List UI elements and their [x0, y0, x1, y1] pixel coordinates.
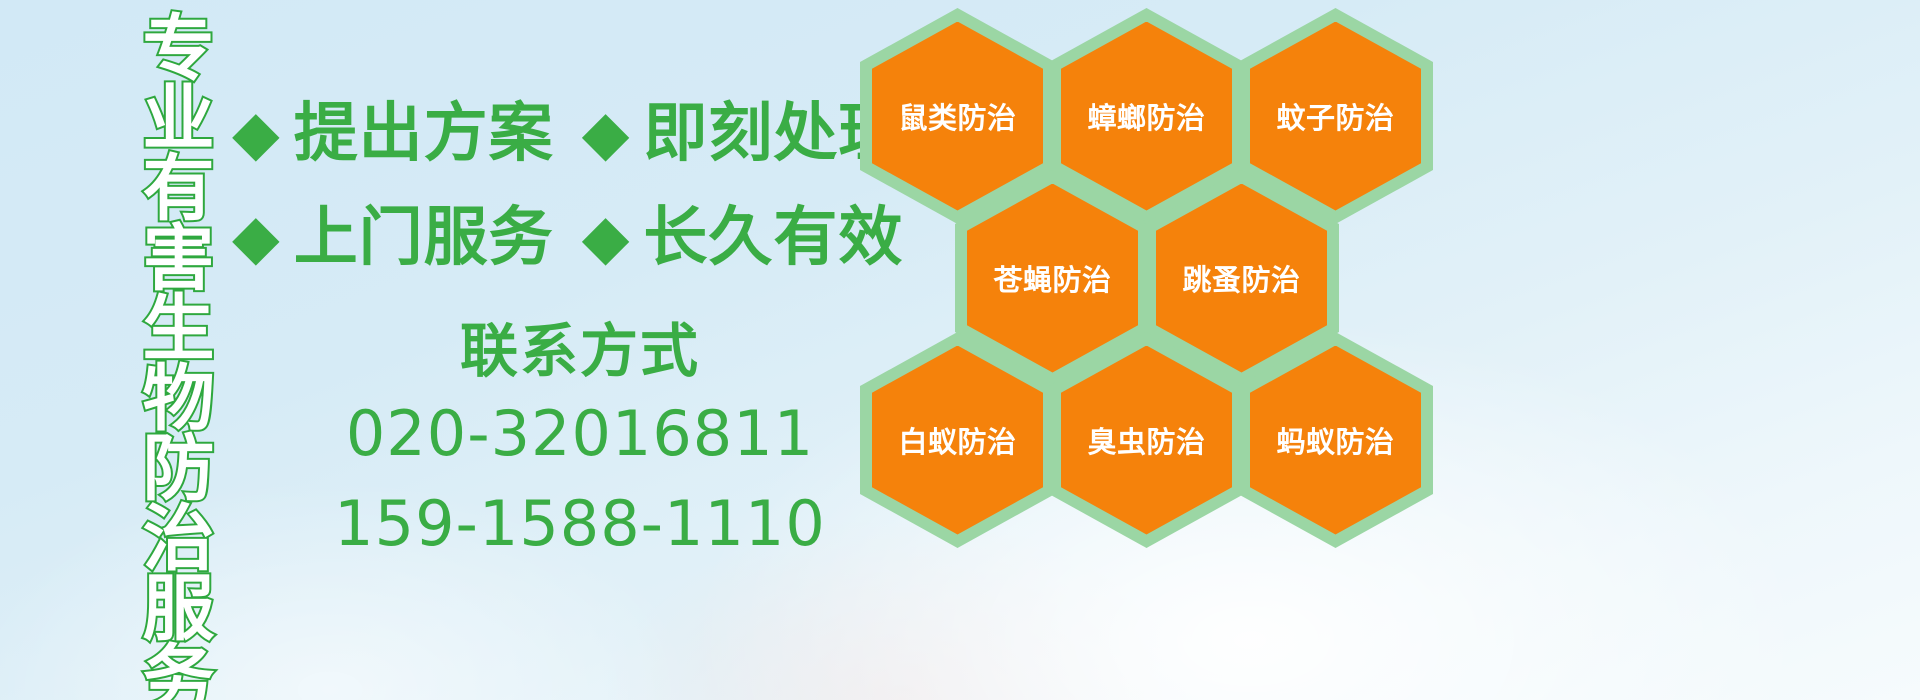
phone-number-mobile[interactable]: 159-1588-1110: [300, 483, 860, 565]
diamond-bullet-icon: ◆: [582, 103, 630, 165]
service-label: 臭虫防治: [1087, 419, 1205, 461]
diamond-bullet-icon: ◆: [232, 103, 280, 165]
service-label: 蚂蚁防治: [1276, 419, 1394, 461]
hex-inner: 蚂蚁防治: [1250, 346, 1421, 535]
diamond-bullet-icon: ◆: [232, 207, 280, 269]
service-label: 苍蝇防治: [993, 257, 1111, 299]
feature-list: ◆ 提出方案 ◆ 即刻处理 ◆ 上门服务 ◆ 长久有效: [232, 82, 872, 290]
contact-title: 联系方式: [300, 318, 860, 385]
service-label: 鼠类防治: [898, 95, 1016, 137]
banner-root: 专业有害生物防治服务 ◆ 提出方案 ◆ 即刻处理 ◆ 上门服务 ◆ 长久有效 联…: [0, 0, 1920, 700]
service-label: 蚊子防治: [1276, 95, 1394, 137]
service-label: 白蚁防治: [898, 419, 1016, 461]
hex-inner: 跳蚤防治: [1156, 184, 1327, 373]
hex-inner: 臭虫防治: [1061, 346, 1232, 535]
feature-row: ◆ 上门服务 ◆ 长久有效: [232, 186, 872, 290]
contact-block: 联系方式 020-32016811 159-1588-1110: [300, 318, 860, 564]
hex-inner: 蚊子防治: [1250, 22, 1421, 211]
feature-row: ◆ 提出方案 ◆ 即刻处理: [232, 82, 872, 186]
feature-item-label: 上门服务: [294, 206, 554, 270]
hex-inner: 蟑螂防治: [1061, 22, 1232, 211]
diamond-bullet-icon: ◆: [582, 207, 630, 269]
hex-inner: 鼠类防治: [872, 22, 1043, 211]
phone-number-landline[interactable]: 020-32016811: [300, 393, 860, 475]
hex-inner: 白蚁防治: [872, 346, 1043, 535]
service-honeycomb: 鼠类防治 蟑螂防治 蚊子防治 苍蝇防治 跳蚤防治 白蚁防治: [860, 0, 1460, 560]
hex-inner: 苍蝇防治: [967, 184, 1138, 373]
feature-item-label: 提出方案: [294, 102, 554, 166]
service-label: 跳蚤防治: [1182, 257, 1300, 299]
service-label: 蟑螂防治: [1087, 95, 1205, 137]
vertical-headline: 专业有害生物防治服务: [112, 10, 208, 700]
